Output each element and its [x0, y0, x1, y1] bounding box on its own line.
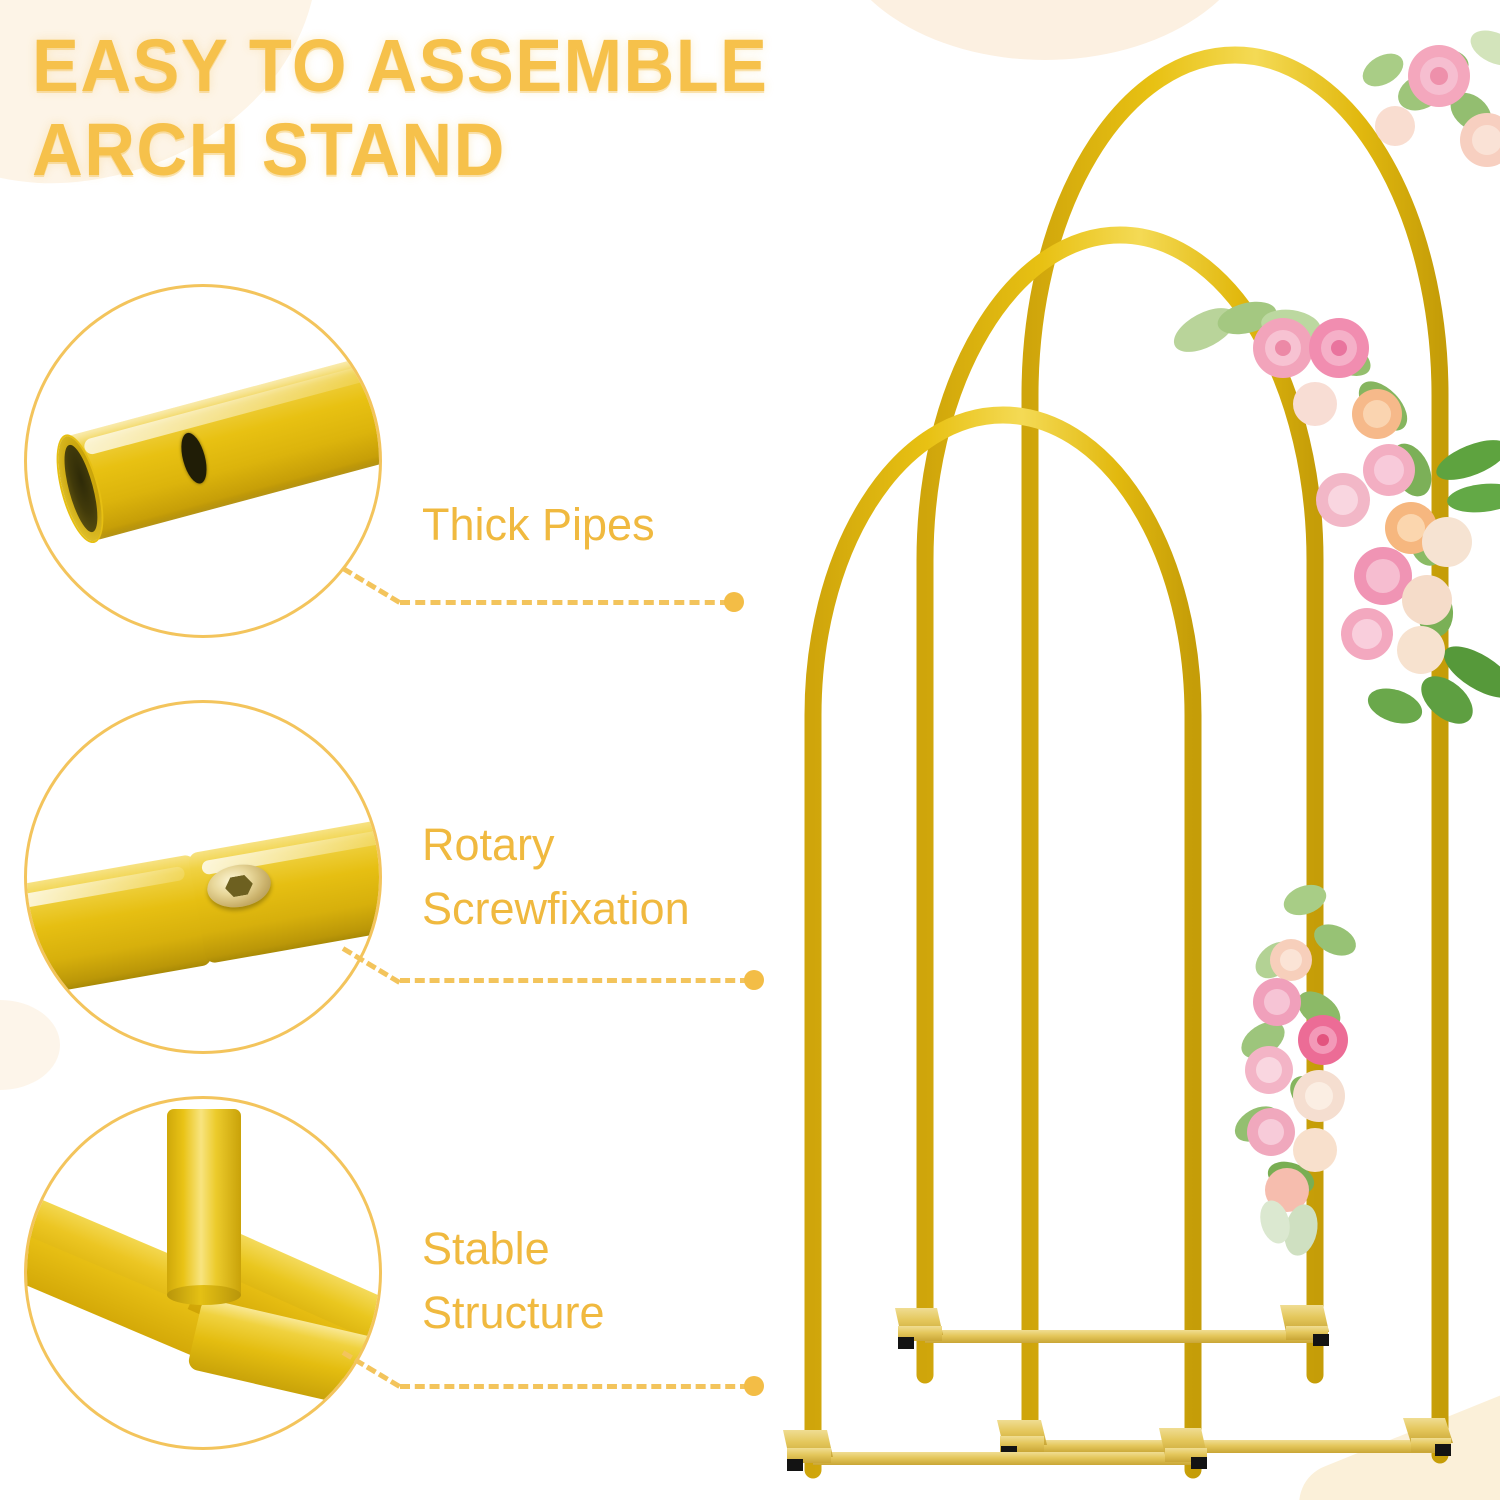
feature-stable-structure-label-line-1: Stable — [422, 1222, 550, 1276]
pipe-screw-hole-icon — [177, 430, 212, 486]
page-title: EASY TO ASSEMBLE ARCH STAND — [32, 24, 962, 192]
infographic-canvas: EASY TO ASSEMBLE ARCH STAND Thick Pipes — [0, 0, 1500, 1500]
foot-cap — [787, 1459, 803, 1471]
base-post-cap — [167, 1285, 241, 1305]
feature-stable-structure-label-line-2: Structure — [422, 1286, 605, 1340]
floral-garland-lower — [1229, 879, 1361, 1258]
base-middle — [895, 1305, 1329, 1349]
feature-thick-pipes-label: Thick Pipes — [422, 498, 655, 552]
hex-socket-icon — [223, 874, 254, 899]
arch-medium — [925, 235, 1315, 1375]
pipe-end-illustration — [27, 287, 379, 635]
pipe-body-shape — [65, 351, 382, 541]
feature-rotary-screwfixation-photo — [24, 700, 382, 1054]
page-title-line-2: ARCH STAND — [32, 108, 916, 192]
foot-cap — [1191, 1457, 1207, 1469]
connector-dashed-line — [400, 1384, 750, 1389]
foot-cap — [898, 1337, 914, 1349]
connector-dashed-line — [400, 600, 730, 605]
arch-large — [1030, 55, 1440, 1455]
product-photo — [735, 0, 1500, 1500]
base-joint-illustration — [27, 1099, 379, 1447]
pipe-highlight-left — [24, 866, 186, 909]
foot-cap — [1435, 1444, 1451, 1456]
feature-rotary-screwfixation-label-line-2: Screwfixation — [422, 882, 690, 936]
page-title-line-1: EASY TO ASSEMBLE — [32, 24, 916, 108]
foot-cap — [1313, 1334, 1329, 1346]
floral-garland-middle — [1167, 296, 1500, 733]
feature-stable-structure: Stable Structure — [24, 1096, 784, 1466]
feature-rotary-screwfixation: Rotary Screwfixation — [24, 700, 784, 1060]
feature-thick-pipes: Thick Pipes — [24, 284, 764, 644]
feature-thick-pipes-photo — [24, 284, 382, 638]
base-vertical-post — [167, 1109, 241, 1297]
feature-stable-structure-photo — [24, 1096, 382, 1450]
pipe-highlight — [83, 363, 377, 456]
connector-end-dot — [724, 592, 744, 612]
connector-end-dot — [744, 1376, 764, 1396]
pipe-joint-illustration — [27, 703, 379, 1051]
connector-dashed-line — [400, 978, 750, 983]
connector-end-dot — [744, 970, 764, 990]
pipe-segment-left — [24, 854, 213, 997]
arch-small — [813, 415, 1193, 1470]
feature-rotary-screwfixation-label-line-1: Rotary — [422, 818, 555, 872]
